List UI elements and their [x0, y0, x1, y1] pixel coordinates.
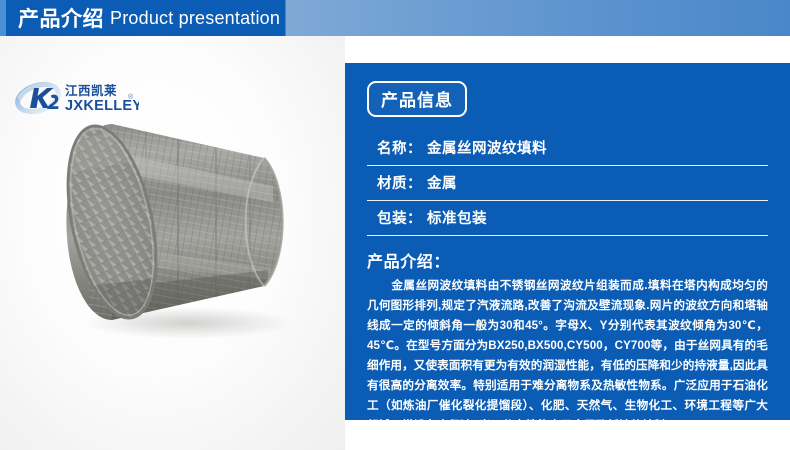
product-info-badge: 产品信息: [367, 81, 467, 117]
spec-row-packaging: 包装： 标准包装: [367, 201, 768, 236]
product-image: [28, 98, 318, 343]
header-title-en: Product presentation: [110, 8, 280, 29]
spec-row-material: 材质： 金属: [367, 166, 768, 201]
product-photo-stage: 江西凯莱 JXKELLEY ®: [0, 36, 345, 450]
logo-name-cn: 江西凯莱: [65, 83, 117, 98]
spec-label-name: 名称：: [377, 137, 422, 158]
description-heading: 产品介绍：: [367, 248, 768, 272]
header-accent-stripe: [0, 0, 6, 36]
header-title-cn: 产品介绍: [18, 3, 104, 33]
spec-list: 名称： 金属丝网波纹填料 材质： 金属 包装： 标准包装: [367, 131, 768, 236]
description-body: 金属丝网波纹填料由不锈钢丝网波纹片组装而成.填料在塔内构成均匀的几何图形排列,规…: [367, 276, 768, 436]
spec-value-material: 金属: [427, 172, 457, 193]
spec-value-name: 金属丝网波纹填料: [427, 137, 547, 158]
spec-row-name: 名称： 金属丝网波纹填料: [367, 131, 768, 166]
header-title-group: 产品介绍 Product presentation: [18, 0, 280, 36]
spec-label-material: 材质：: [377, 172, 422, 193]
product-info-panel: 产品信息 名称： 金属丝网波纹填料 材质： 金属 包装： 标准包装 产品介绍： …: [345, 63, 790, 420]
spec-label-packaging: 包装：: [377, 207, 422, 228]
spec-value-packaging: 标准包装: [427, 207, 487, 228]
page-header: 产品介绍 Product presentation: [0, 0, 790, 36]
